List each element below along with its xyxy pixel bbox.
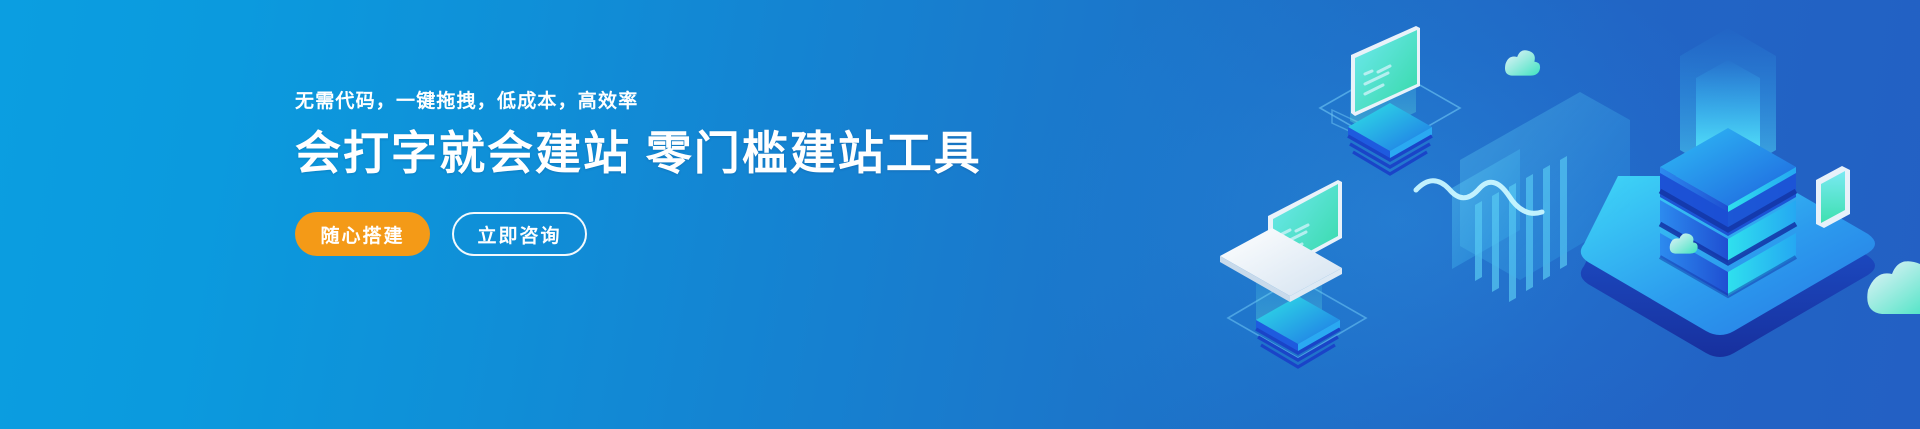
phone-tile bbox=[1816, 166, 1850, 228]
cloud-large bbox=[1867, 261, 1920, 314]
monitor-on-disc-stack bbox=[1320, 26, 1460, 174]
hero-illustration bbox=[1220, 0, 1920, 429]
cta-row: 随心搭建 立即咨询 bbox=[295, 212, 587, 256]
primary-cta-button[interactable]: 随心搭建 bbox=[295, 212, 430, 256]
copy-block: 无需代码，一键拖拽，低成本，高效率 会打字就会建站 零门槛建站工具 随心搭建 立… bbox=[295, 0, 995, 429]
hero-banner: 无需代码，一键拖拽，低成本，高效率 会打字就会建站 零门槛建站工具 随心搭建 立… bbox=[0, 0, 1920, 429]
banner-headline: 会打字就会建站 零门槛建站工具 bbox=[295, 124, 982, 182]
cloud-small-top bbox=[1505, 50, 1540, 75]
laptop-on-disc-stack bbox=[1220, 180, 1366, 367]
banner-subtitle: 无需代码，一键拖拽，低成本，高效率 bbox=[295, 86, 638, 113]
secondary-cta-button[interactable]: 立即咨询 bbox=[452, 212, 587, 256]
